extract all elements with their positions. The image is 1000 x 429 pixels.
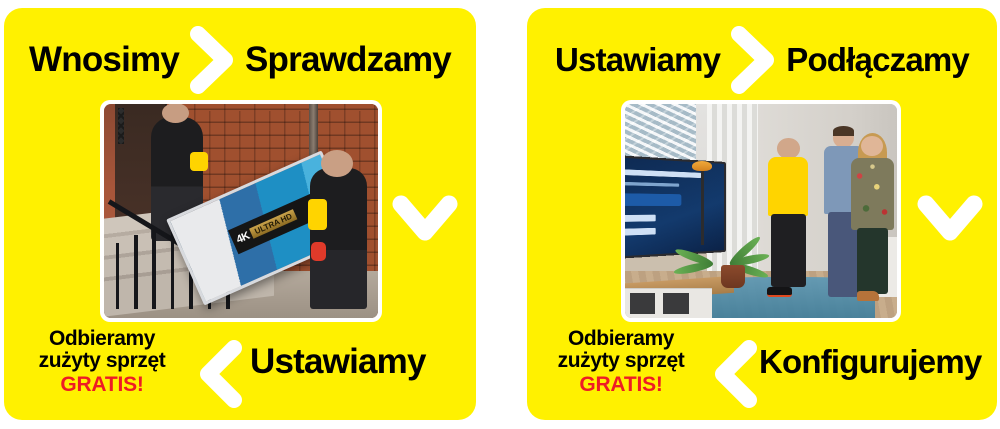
photo-houseplant [707, 211, 759, 288]
chevron-right-icon [189, 26, 235, 94]
panel-right-photo-frame [621, 100, 901, 322]
panel-right-step-3-label: Konfigurujemy [759, 343, 981, 381]
recycling-note-free-badge: GRATIS! [10, 374, 194, 396]
panel-left-recycling-note: Odbieramy zużyty sprzęt GRATIS! [4, 328, 194, 396]
chevron-down-icon [392, 194, 458, 244]
photo-person-installer [766, 138, 810, 296]
service-step-panel-left: Wnosimy Sprawdzamy [4, 8, 476, 420]
recycling-note-line-1: Odbieramy [533, 328, 709, 350]
recycling-note-line-2: zużyty sprzęt [533, 350, 709, 372]
photo-tv-badge-uhd: ULTRA HD [249, 210, 297, 240]
panel-left-photo: 4K ULTRA HD [104, 104, 378, 318]
photo-tv-badge-4k: 4K [235, 230, 252, 246]
panel-left-top-row: Wnosimy Sprawdzamy [4, 26, 476, 92]
panel-left-photo-frame: 4K ULTRA HD [100, 100, 382, 322]
infographic-stage: Wnosimy Sprawdzamy [0, 0, 1000, 429]
panel-right-top-row: Ustawiamy Podłączamy [527, 26, 997, 92]
chevron-right-icon [730, 26, 776, 94]
panel-left-step-1-label: Wnosimy [29, 42, 179, 77]
panel-right-bottom-row: Odbieramy zużyty sprzęt GRATIS! Konfigur… [527, 320, 997, 404]
panel-left-bottom-row: Odbieramy zużyty sprzęt GRATIS! Ustawiam… [4, 320, 476, 404]
recycling-note-line-2: zużyty sprzęt [10, 350, 194, 372]
panel-right-step-1-label: Ustawiamy [555, 43, 720, 76]
chevron-down-icon [917, 194, 983, 244]
recycling-note-free-badge: GRATIS! [533, 374, 709, 396]
panel-right-step-2-label: Podłączamy [786, 43, 969, 76]
photo-person-customer-woman [851, 136, 895, 301]
panel-right-recycling-note: Odbieramy zużyty sprzęt GRATIS! [527, 328, 709, 396]
panel-right-photo [625, 104, 897, 318]
photo-person-carrier-lower [310, 168, 368, 309]
service-step-panel-right: Ustawiamy Podłączamy [527, 8, 997, 420]
panel-left-step-2-label: Sprawdzamy [245, 42, 451, 77]
panel-left-step-3-label: Ustawiamy [250, 342, 426, 382]
recycling-note-line-1: Odbieramy [10, 328, 194, 350]
